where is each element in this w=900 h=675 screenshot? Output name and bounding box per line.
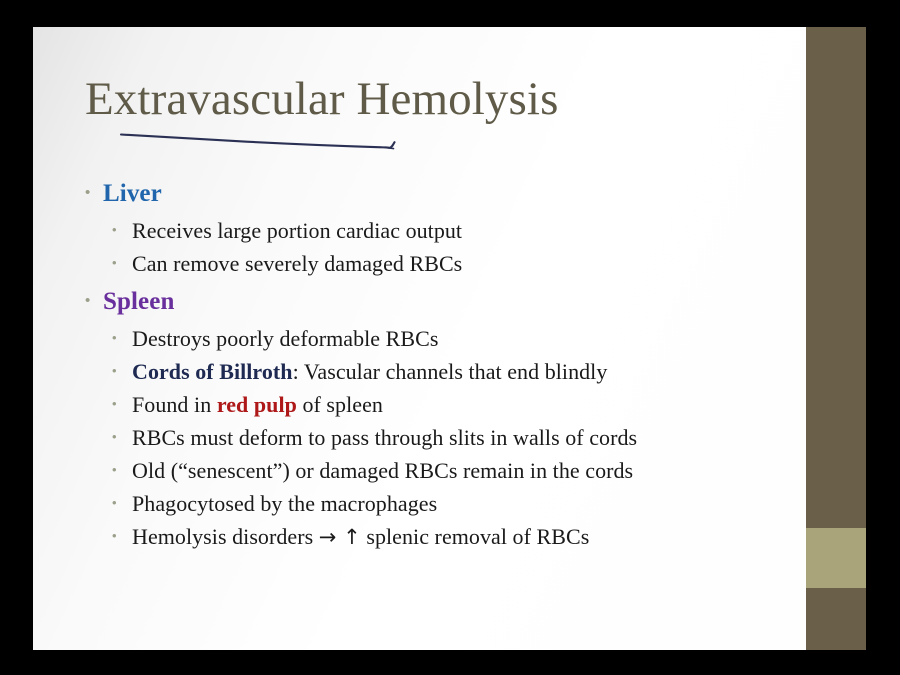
bullet-dot-icon: •	[112, 397, 132, 410]
bullet-dot-icon: •	[112, 463, 132, 476]
list-item-label: Hemolysis disorders → ↑ splenic removal …	[132, 520, 589, 554]
list-item-phagocytosed-by-macrophages[interactable]: • Phagocytosed by the macrophages	[85, 487, 785, 520]
bullet-dot-icon: •	[112, 496, 132, 509]
bullet-dot-icon: •	[85, 185, 103, 200]
decorative-bar-top	[806, 27, 866, 528]
list-item-label-pre: Found in	[132, 392, 217, 417]
screenshot-stage: Extravascular Hemolysis • Liver • Receiv…	[0, 0, 900, 675]
bullet-dot-icon: •	[112, 529, 132, 542]
bullet-dot-icon: •	[112, 223, 132, 236]
decorative-bar-bottom	[806, 588, 866, 650]
list-item-remove-damaged-rbcs[interactable]: • Can remove severely damaged RBCs	[85, 247, 785, 280]
list-item-label: Can remove severely damaged RBCs	[132, 247, 462, 280]
list-item-found-in-red-pulp[interactable]: • Found in red pulp of spleen	[85, 388, 785, 421]
bullet-dot-icon: •	[85, 293, 103, 308]
bullet-dot-icon: •	[112, 331, 132, 344]
page-title: Extravascular Hemolysis	[85, 75, 785, 125]
list-item-label: Spleen	[103, 285, 174, 319]
list-item-label: Phagocytosed by the macrophages	[132, 487, 437, 520]
list-item-receives-cardiac-output[interactable]: • Receives large portion cardiac output	[85, 214, 785, 247]
list-item-label: Old (“senescent”) or damaged RBCs remain…	[132, 454, 633, 487]
list-item-hemolysis-disorders[interactable]: • Hemolysis disorders → ↑ splenic remova…	[85, 520, 785, 554]
list-item-label: Destroys poorly deformable RBCs	[132, 322, 438, 355]
list-item-label: Receives large portion cardiac output	[132, 214, 462, 247]
bullet-dot-icon: •	[112, 430, 132, 443]
emphasis-red-pulp: red pulp	[217, 392, 297, 417]
list-item-label-rest: : Vascular channels that end blindly	[293, 359, 608, 384]
list-item-rbcs-must-deform[interactable]: • RBCs must deform to pass through slits…	[85, 421, 785, 454]
bullet-dot-icon: •	[112, 256, 132, 269]
list-item-label-post: of spleen	[297, 392, 383, 417]
list-item-label: Cords of Billroth: Vascular channels tha…	[132, 355, 607, 388]
list-item-cords-of-billroth[interactable]: • Cords of Billroth: Vascular channels t…	[85, 355, 785, 388]
list-item-label: Found in red pulp of spleen	[132, 388, 383, 421]
title-block: Extravascular Hemolysis	[85, 75, 785, 125]
list-item-old-senescent-rbcs[interactable]: • Old (“senescent”) or damaged RBCs rema…	[85, 454, 785, 487]
presentation-slide: Extravascular Hemolysis • Liver • Receiv…	[33, 27, 866, 650]
list-item-label: Liver	[103, 177, 162, 211]
list-item-liver[interactable]: • Liver	[85, 177, 785, 211]
list-item-label: RBCs must deform to pass through slits i…	[132, 421, 637, 454]
list-item-destroys-poorly-deformable[interactable]: • Destroys poorly deformable RBCs	[85, 322, 785, 355]
list-item-label-pre: Hemolysis disorders	[132, 524, 319, 549]
list-item-label-post: splenic removal of RBCs	[361, 524, 590, 549]
bullet-list: • Liver • Receives large portion cardiac…	[85, 177, 785, 554]
bullet-dot-icon: •	[112, 364, 132, 377]
emphasis-cords-of-billroth: Cords of Billroth	[132, 359, 293, 384]
decorative-bar-accent	[806, 528, 866, 588]
list-item-spleen[interactable]: • Spleen	[85, 285, 785, 319]
right-arrow-up-arrow-icon: → ↑	[319, 525, 361, 549]
